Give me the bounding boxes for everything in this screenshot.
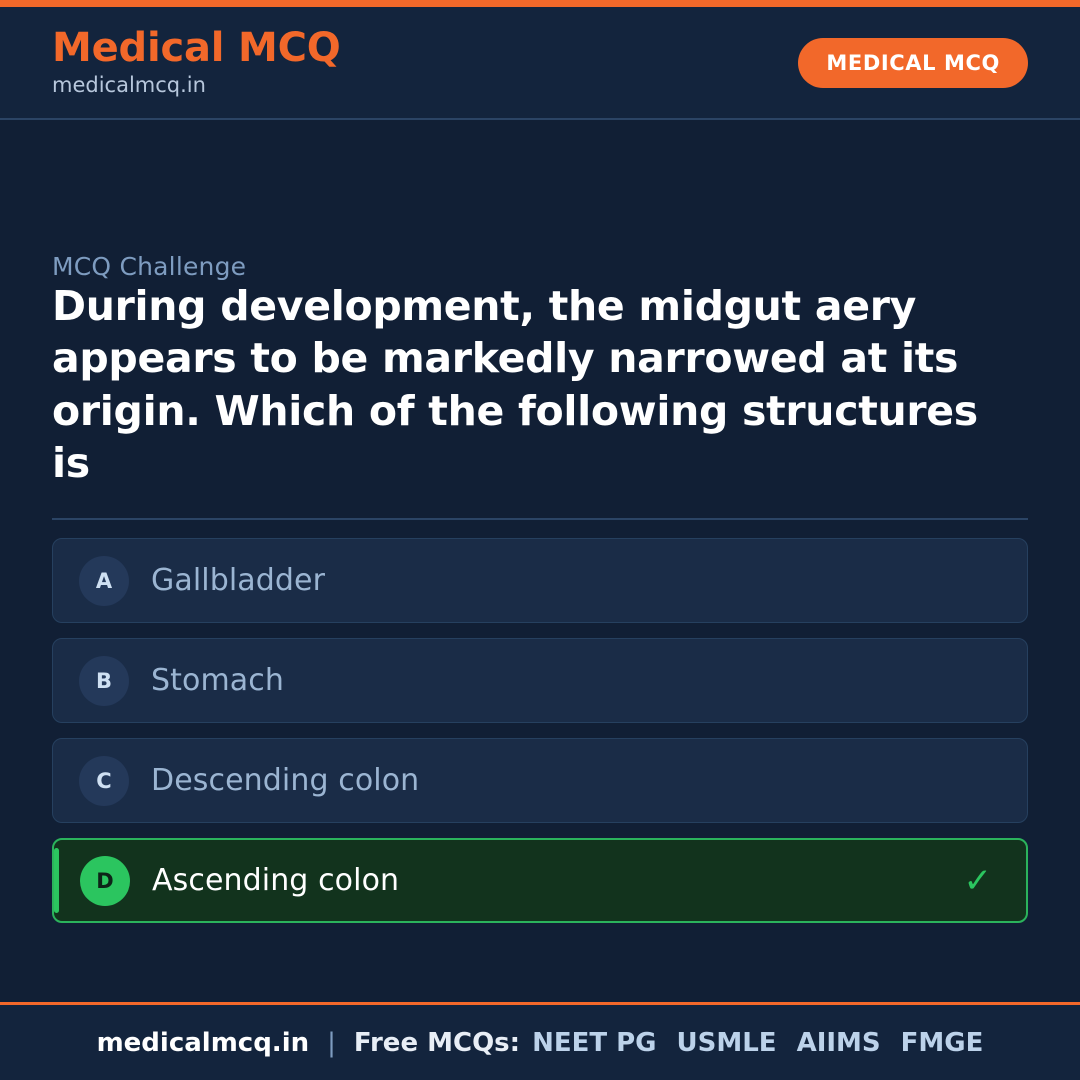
option-b[interactable]: B Stomach	[52, 638, 1028, 723]
main-content: MCQ Challenge During development, the mi…	[0, 120, 1080, 1002]
footer: medicalmcq.in | Free MCQs: NEET PG USMLE…	[0, 1002, 1080, 1080]
option-b-letter: B	[79, 656, 129, 706]
question-text: During development, the midgut aery appe…	[52, 280, 1028, 490]
mcq-card: Medical MCQ medicalmcq.in MEDICAL MCQ MC…	[0, 0, 1080, 1080]
divider	[52, 518, 1028, 520]
options-list: A Gallbladder B Stomach C Descending col…	[52, 538, 1028, 938]
footer-separator: |	[327, 1028, 336, 1058]
option-c[interactable]: C Descending colon	[52, 738, 1028, 823]
correct-indicator-stripe	[54, 848, 59, 913]
check-icon: ✓	[964, 864, 993, 898]
section-eyebrow: MCQ Challenge	[52, 252, 246, 281]
top-accent-bar	[0, 0, 1080, 7]
option-d-letter: D	[80, 856, 130, 906]
footer-tag-fmge: FMGE	[901, 1028, 984, 1058]
option-d-label: Ascending colon	[152, 863, 399, 898]
footer-tag-aiims: AIIMS	[797, 1028, 881, 1058]
footer-site: medicalmcq.in	[97, 1028, 310, 1058]
header-badge: MEDICAL MCQ	[798, 38, 1028, 88]
option-a-label: Gallbladder	[151, 563, 325, 598]
brand-subtitle: medicalmcq.in	[52, 74, 341, 97]
brand-block: Medical MCQ medicalmcq.in	[52, 27, 341, 97]
option-c-letter: C	[79, 756, 129, 806]
footer-tag-usmle: USMLE	[677, 1028, 777, 1058]
option-a[interactable]: A Gallbladder	[52, 538, 1028, 623]
footer-label: Free MCQs:	[354, 1028, 520, 1058]
header: Medical MCQ medicalmcq.in MEDICAL MCQ	[0, 7, 1080, 120]
option-d[interactable]: D Ascending colon ✓	[52, 838, 1028, 923]
footer-inner: medicalmcq.in | Free MCQs: NEET PG USMLE…	[97, 1028, 984, 1058]
option-a-letter: A	[79, 556, 129, 606]
option-b-label: Stomach	[151, 663, 284, 698]
footer-tag-neet-pg: NEET PG	[532, 1028, 656, 1058]
option-c-label: Descending colon	[151, 763, 419, 798]
brand-title: Medical MCQ	[52, 27, 341, 69]
